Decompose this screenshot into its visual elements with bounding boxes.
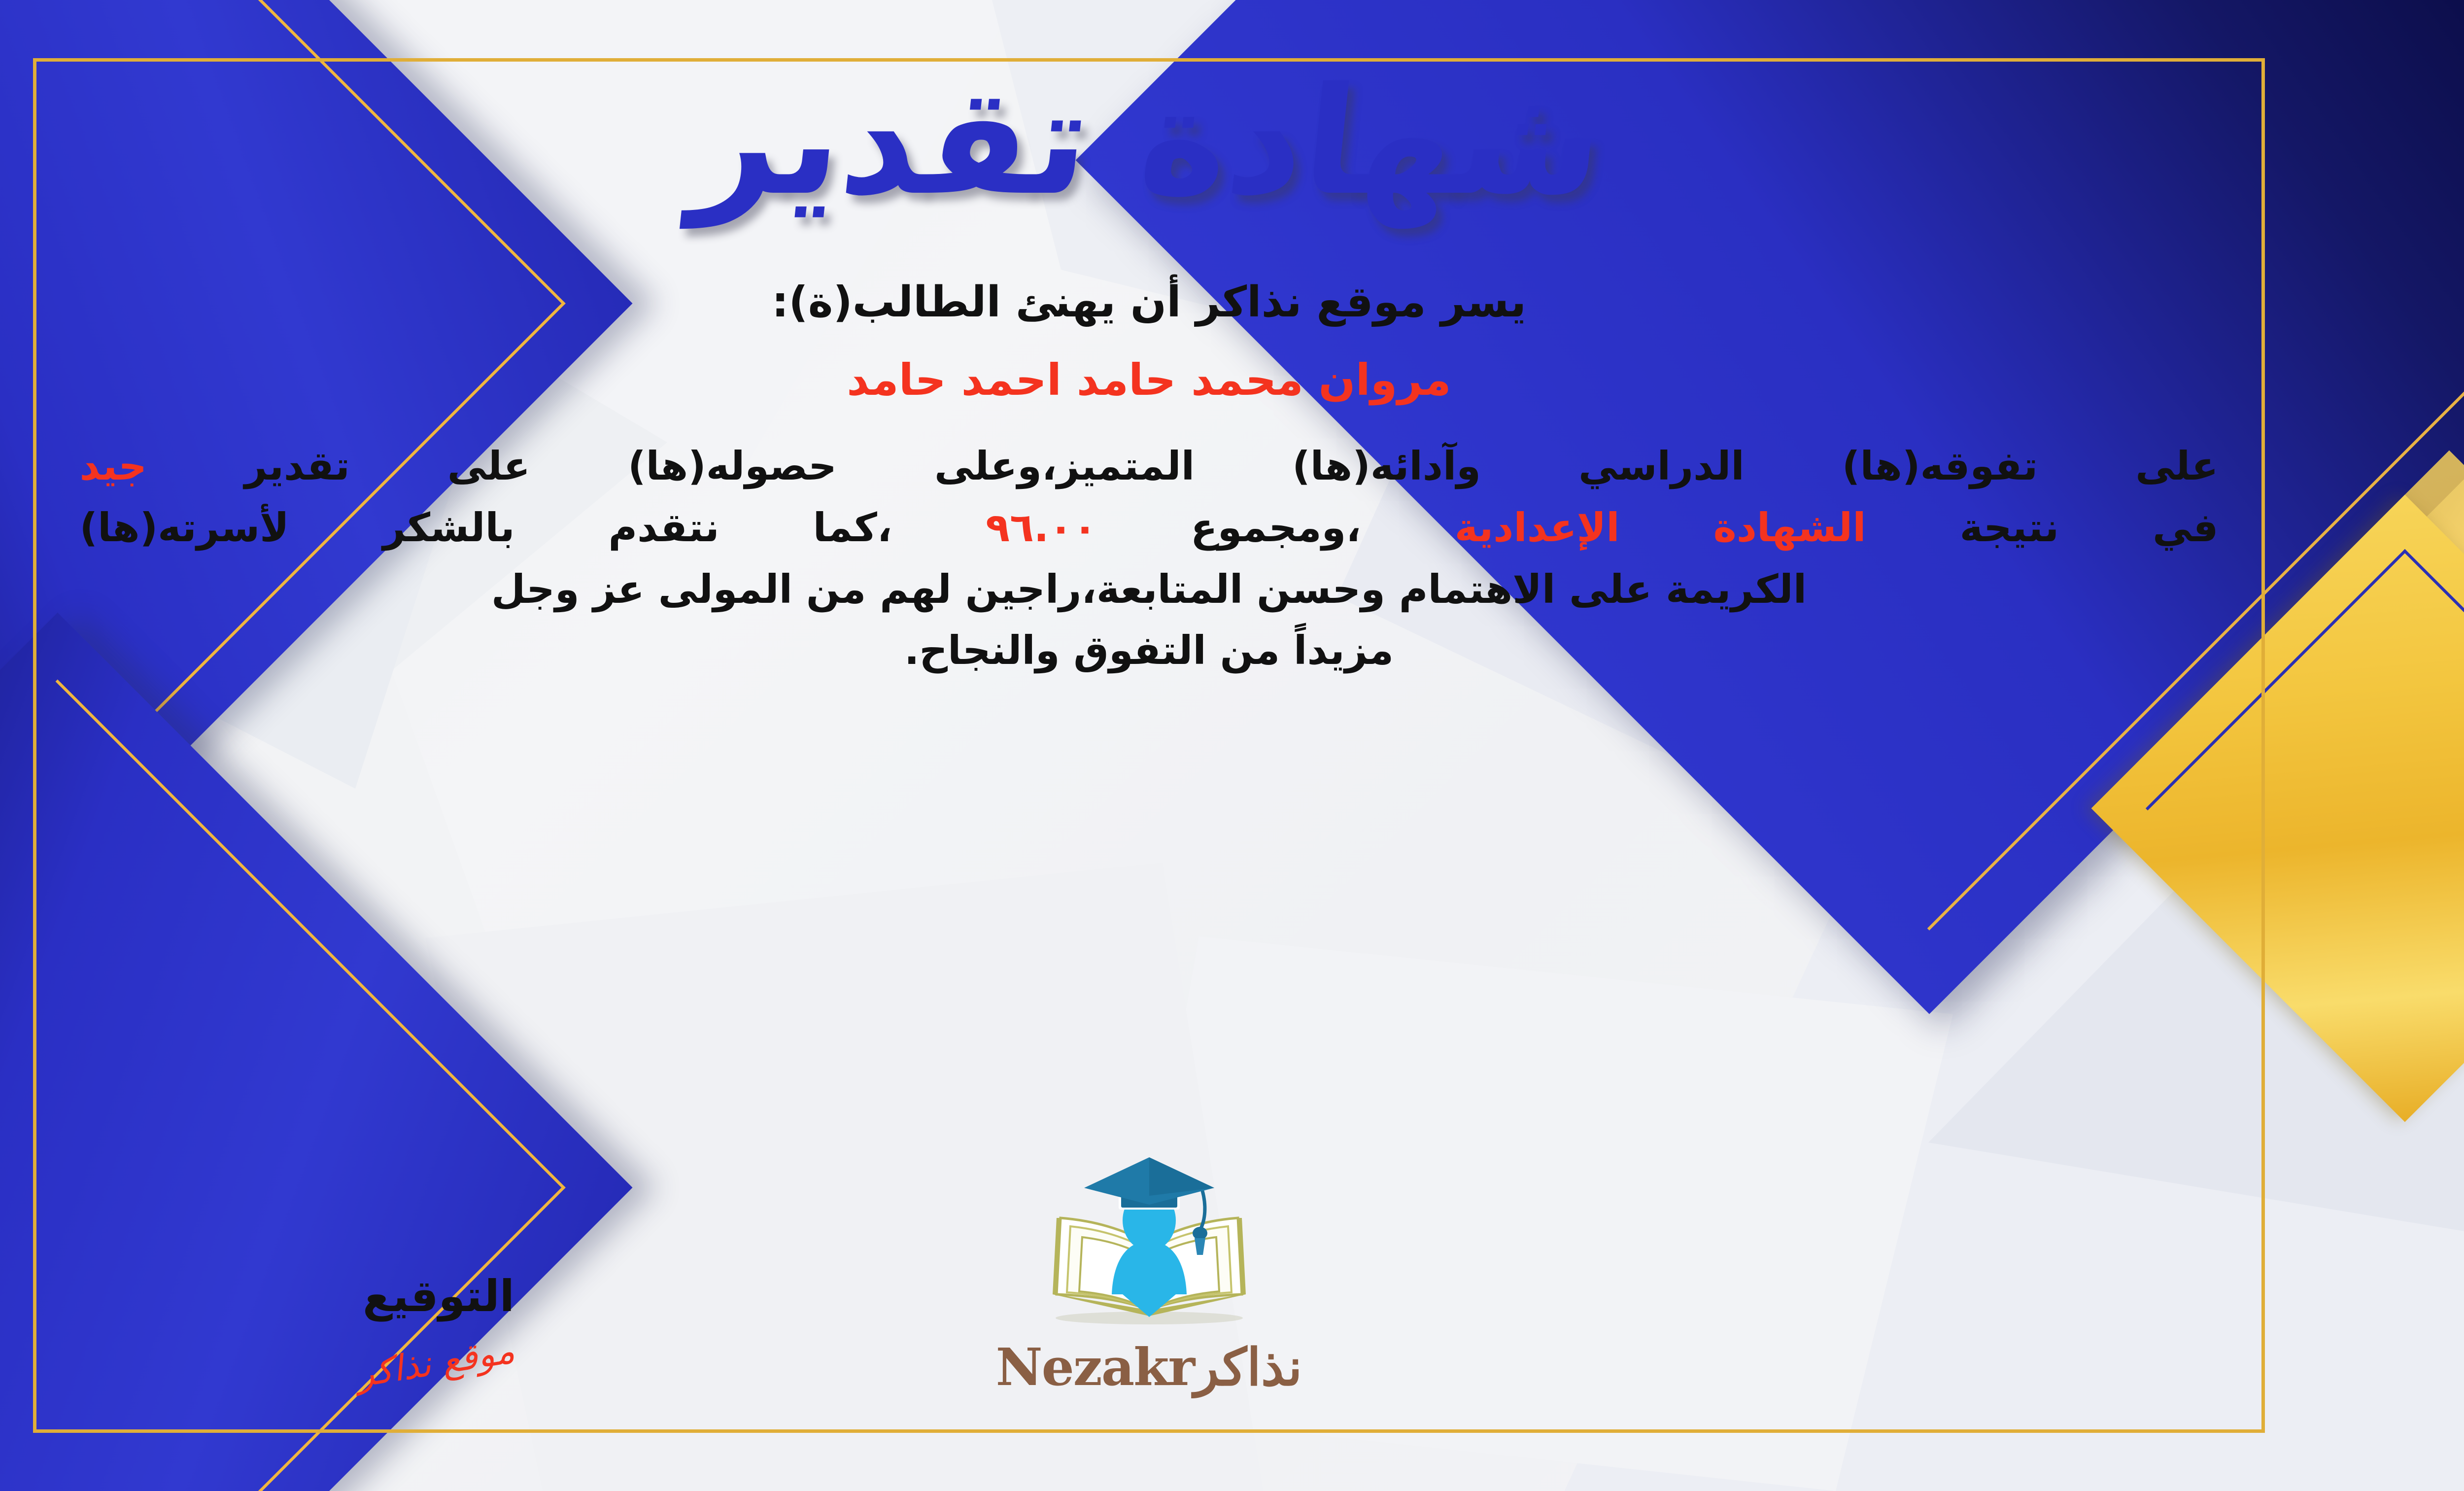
congratulation-lead-text: يسر موقع نذاكر أن يهنئ الطالب(ة):: [772, 277, 1526, 327]
student-name: مروان محمد حامد احمد حامد: [847, 354, 1451, 405]
body-line-2: في نتيجة الشهادة الإعدادية ،ومجموع ٩٦.٠٠…: [80, 497, 2219, 559]
signature-value: موقع نذاكر: [358, 1328, 519, 1396]
nezakr-logo: نذاكرNezakr: [977, 1146, 1322, 1397]
graduate-book-icon: [1001, 1146, 1297, 1334]
result-label: في نتيجة: [1960, 505, 2219, 551]
logo-wordmark: نذاكرNezakr: [996, 1337, 1302, 1397]
body-line-4: مزيداً من التفوق والنجاح.: [80, 620, 2219, 682]
logo-wordmark-ar: نذاكر: [1194, 1337, 1302, 1397]
certificate-body: على تفوقه(ها) الدراسي وآدائه(ها) المتميز…: [80, 436, 2219, 682]
grade-value: جيد: [80, 443, 147, 489]
total-label: ،ومجموع: [1191, 505, 1361, 551]
body-line-1-text: على تفوقه(ها) الدراسي وآدائه(ها) المتميز…: [244, 443, 2218, 489]
certificate-stage: الشهادة الإعدادية: [1455, 505, 1866, 551]
body-line-3: الكريمة على الاهتمام وحسن المتابعة،راجين…: [80, 559, 2219, 621]
total-score-value: ٩٦.٠٠: [986, 505, 1097, 551]
body-line-1: على تفوقه(ها) الدراسي وآدائه(ها) المتميز…: [80, 436, 2219, 497]
thanks-text: ،كما نتقدم بالشكر لأسرته(ها): [80, 505, 892, 551]
signature-label: التوقيع: [286, 1271, 591, 1321]
certificate-page: شهادة تقدير يسر موقع نذاكر أن يهنئ الطال…: [0, 0, 2464, 1491]
signature-block: التوقيع موقع نذاكر: [286, 1271, 591, 1383]
certificate-title: شهادة تقدير: [687, 64, 1611, 219]
logo-wordmark-en: Nezakr: [996, 1337, 1195, 1397]
certificate-footer: التوقيع موقع نذاكر: [0, 1146, 2464, 1397]
